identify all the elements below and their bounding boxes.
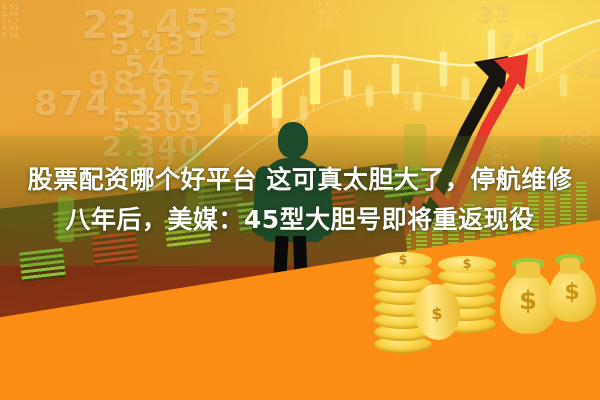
headline: 股票配资哪个好平台 这可真太胆大了，停航维修 八年后，美媒：45型大胆号即将重返… [0, 160, 600, 240]
money-bag-dollar-symbol: $ [548, 280, 596, 305]
money-bag: $ [548, 268, 596, 322]
money-bag-neck [516, 262, 540, 278]
headline-line-1: 股票配资哪个好平台 这可真太胆大了，停航维修 [0, 160, 600, 200]
coin-dollar-symbol: $ [408, 304, 466, 323]
headline-line-2: 八年后，美媒：45型大胆号即将重返现役 [0, 200, 600, 240]
coin-dollar-symbol: $ [438, 257, 496, 272]
image-canvas: 23.453 5.431 54 98.675 874.345 5.309 2.3… [0, 0, 600, 400]
coin-dollar-symbol: $ [374, 253, 432, 268]
money-bag-neck [560, 258, 580, 274]
